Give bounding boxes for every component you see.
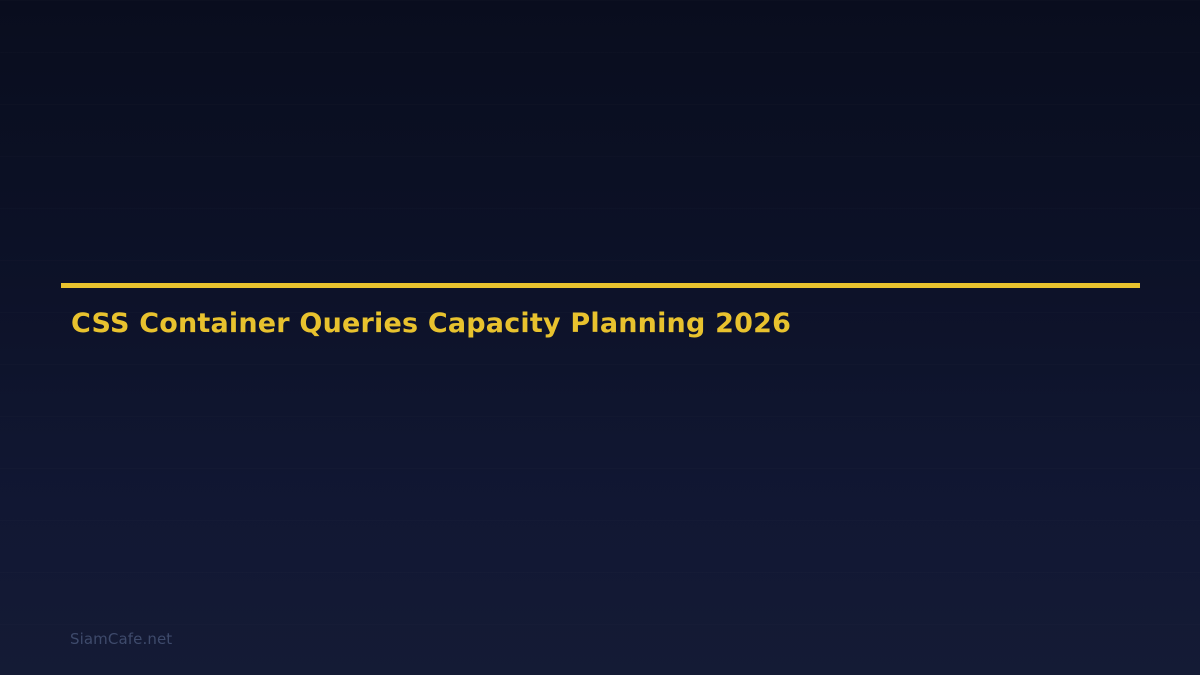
title-block: CSS Container Queries Capacity Planning … [61,283,1140,288]
slide-canvas: CSS Container Queries Capacity Planning … [0,0,1200,675]
watermark-label: SiamCafe.net [70,630,172,648]
page-title: CSS Container Queries Capacity Planning … [71,308,791,340]
accent-rule [61,283,1140,288]
